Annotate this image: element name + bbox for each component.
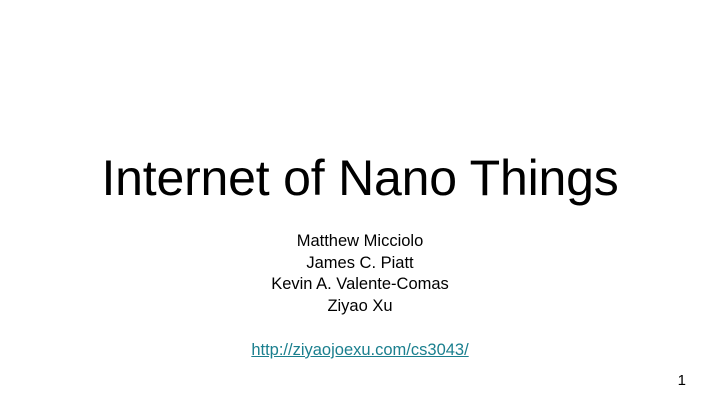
title-block: Internet of Nano Things xyxy=(0,150,720,206)
list-item: James C. Piatt xyxy=(0,253,720,275)
presentation-slide: Internet of Nano Things Matthew Micciolo… xyxy=(0,0,720,405)
list-item: Matthew Micciolo xyxy=(0,231,720,253)
link-block: http://ziyaojoexu.com/cs3043/ xyxy=(0,340,720,361)
page-title: Internet of Nano Things xyxy=(0,150,720,206)
slide-page-number: 1 xyxy=(678,372,686,389)
course-website-link[interactable]: http://ziyaojoexu.com/cs3043/ xyxy=(251,341,468,359)
author-list: Matthew Micciolo James C. Piatt Kevin A.… xyxy=(0,231,720,317)
list-item: Kevin A. Valente-Comas xyxy=(0,274,720,296)
list-item: Ziyao Xu xyxy=(0,296,720,318)
